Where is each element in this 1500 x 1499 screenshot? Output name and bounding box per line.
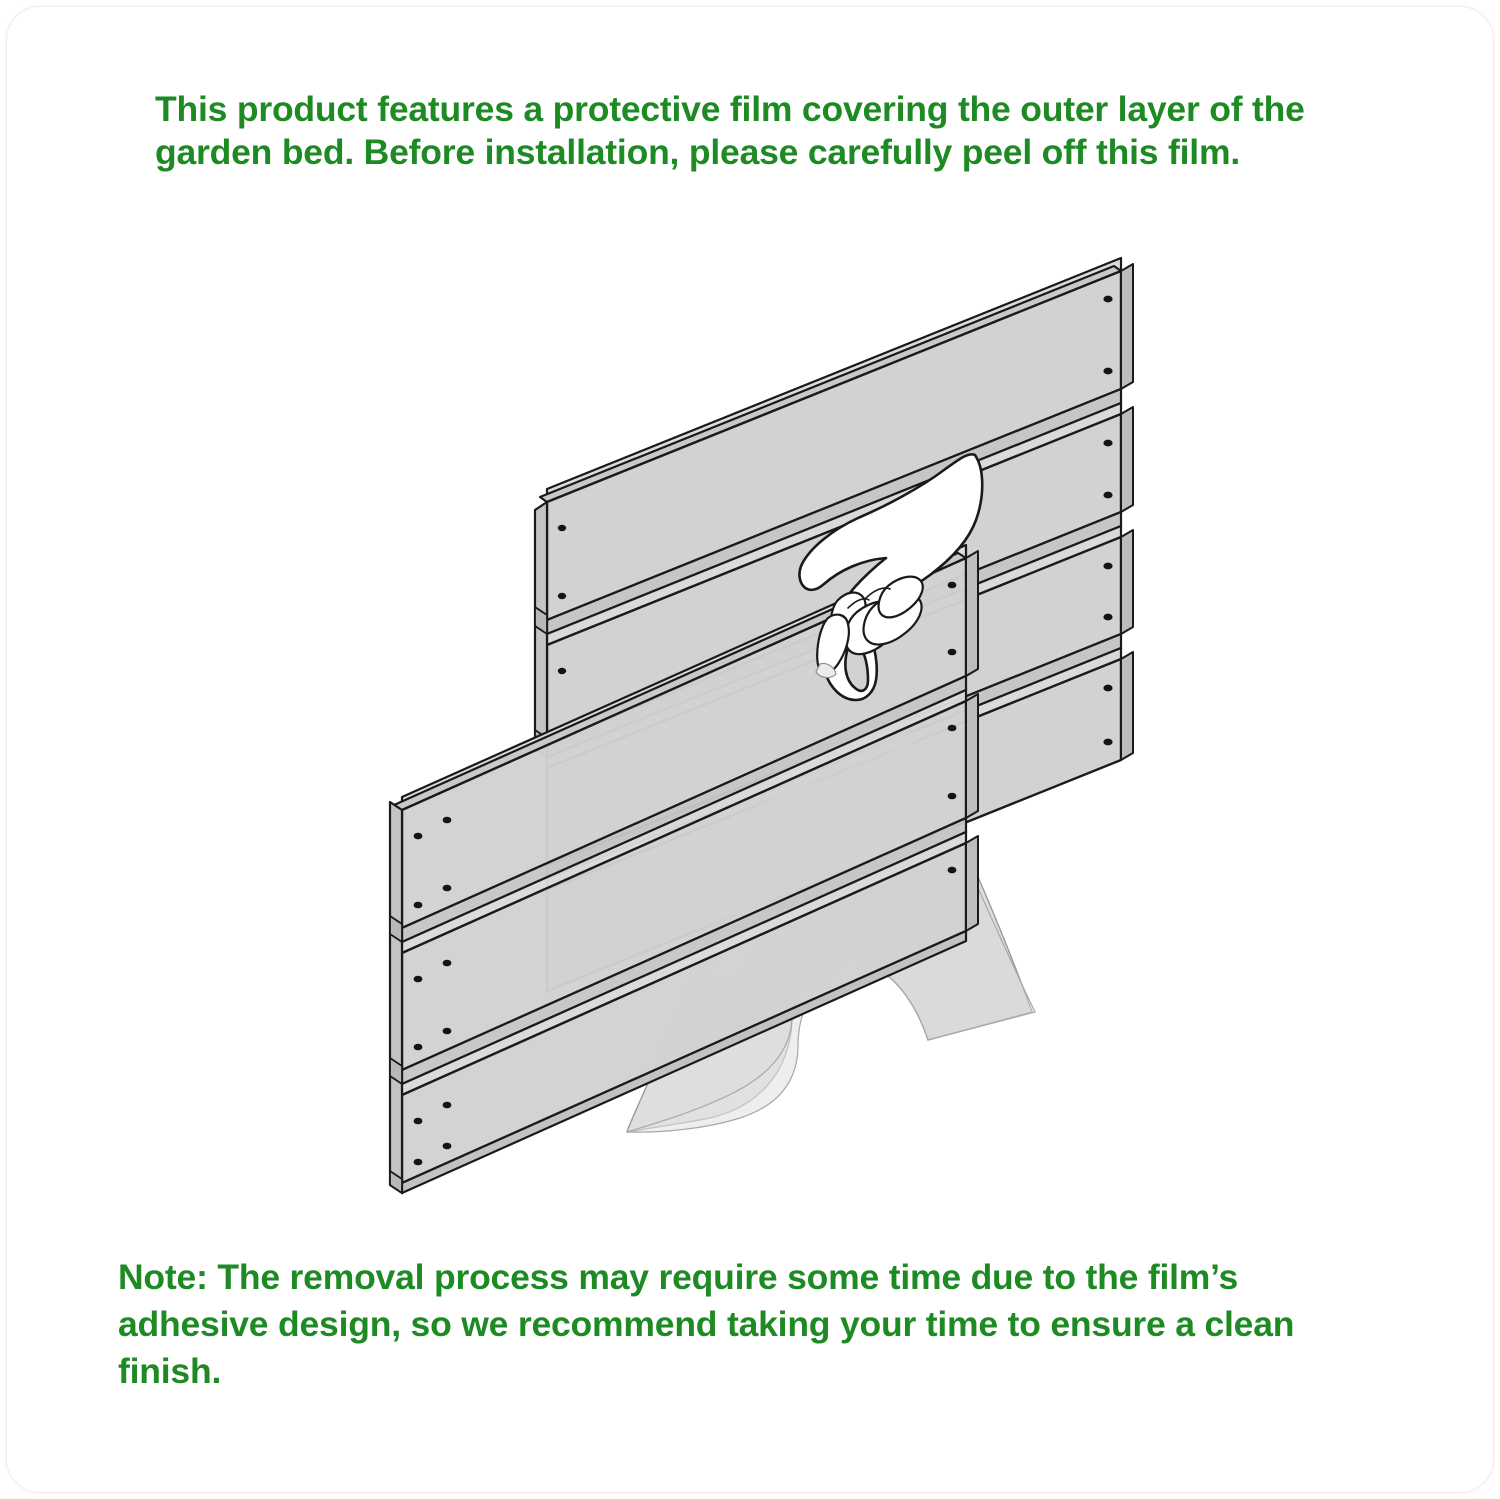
instruction-card-page: This product features a protective film … <box>0 0 1500 1499</box>
note-text: Note: The removal process may require so… <box>118 1254 1398 1395</box>
back-wall-left-end <box>535 502 547 757</box>
back-wall-right-ends <box>1121 264 1133 760</box>
front-wall-left-end <box>390 802 402 1193</box>
front-wall-right-ends <box>966 551 978 931</box>
